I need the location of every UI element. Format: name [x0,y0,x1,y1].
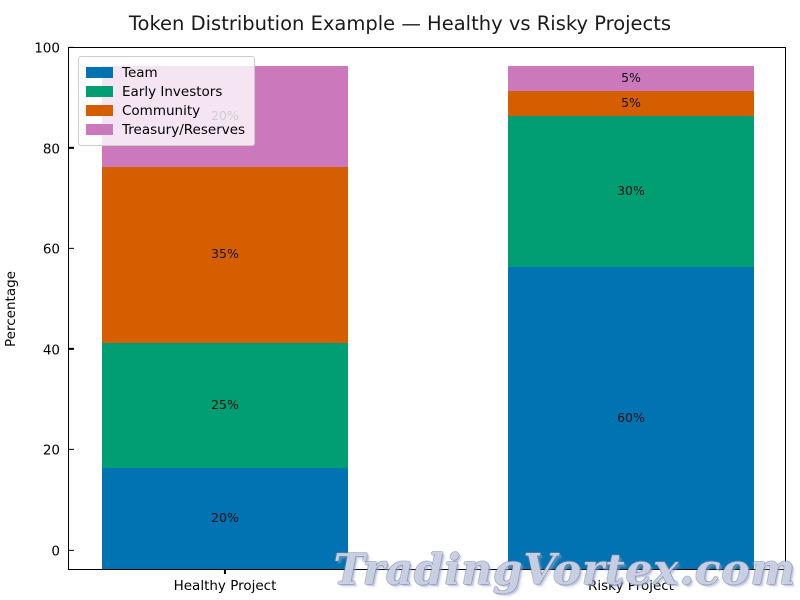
x-axis-tick-label: Risky Project [588,578,674,594]
y-axis-label: Percentage [3,271,19,347]
bar-segment[interactable]: 60% [508,267,754,569]
bar-segment-label: 35% [102,248,348,261]
legend-item[interactable]: Early Investors [86,82,245,101]
y-axis-tick-label: 100 [34,41,69,57]
y-axis-tick: 20 [43,440,69,459]
y-axis-tick: 0 [51,541,69,560]
bar-segment[interactable]: 30% [508,116,754,267]
bar-segment-label: 5% [508,72,754,85]
legend-label: Early Investors [122,84,222,100]
x-axis-tick: Healthy Project [174,569,277,594]
x-axis-tick-mark [630,569,631,574]
chart-title: Token Distribution Example — Healthy vs … [0,12,800,35]
bar-segment[interactable]: 35% [102,167,348,343]
y-axis-tick: 60 [43,239,69,258]
bar-segment-label: 5% [508,97,754,110]
y-axis-tick-label: 80 [43,141,69,157]
legend-swatch [86,67,113,78]
y-axis-tick-label: 40 [43,342,69,358]
legend-swatch [86,124,113,135]
legend-label: Community [122,103,200,119]
bar-segment[interactable]: 25% [102,343,348,469]
legend-swatch [86,105,113,116]
legend-label: Team [122,65,158,81]
x-axis-tick: Risky Project [588,569,674,594]
y-axis-tick: 80 [43,138,69,157]
legend-item[interactable]: Community [86,101,245,120]
legend-label: Treasury/Reserves [122,122,245,138]
x-axis-tick-label: Healthy Project [174,578,277,594]
bar-segment[interactable]: 20% [102,468,348,569]
bar-segment-label: 60% [508,412,754,425]
bar-segment-label: 25% [102,399,348,412]
x-axis-tick-mark [224,569,225,574]
y-axis-tick-label: 60 [43,242,69,258]
y-axis-tick-label: 20 [43,443,69,459]
y-axis-tick: 100 [34,38,69,57]
plot-area: Percentage 020406080100 20%25%35%20%60%3… [68,47,786,570]
legend-swatch [86,86,113,97]
legend-item[interactable]: Team [86,63,245,82]
bar-segment[interactable]: 5% [508,91,754,116]
bar-segment-label: 30% [508,185,754,198]
bar-segment-label: 20% [102,512,348,525]
y-axis-tick-label: 0 [51,544,69,560]
chart-figure: Token Distribution Example — Healthy vs … [0,0,800,600]
y-axis-tick: 40 [43,339,69,358]
bar-segment[interactable]: 5% [508,66,754,91]
chart-legend[interactable]: TeamEarly InvestorsCommunityTreasury/Res… [78,56,255,146]
legend-item[interactable]: Treasury/Reserves [86,120,245,139]
